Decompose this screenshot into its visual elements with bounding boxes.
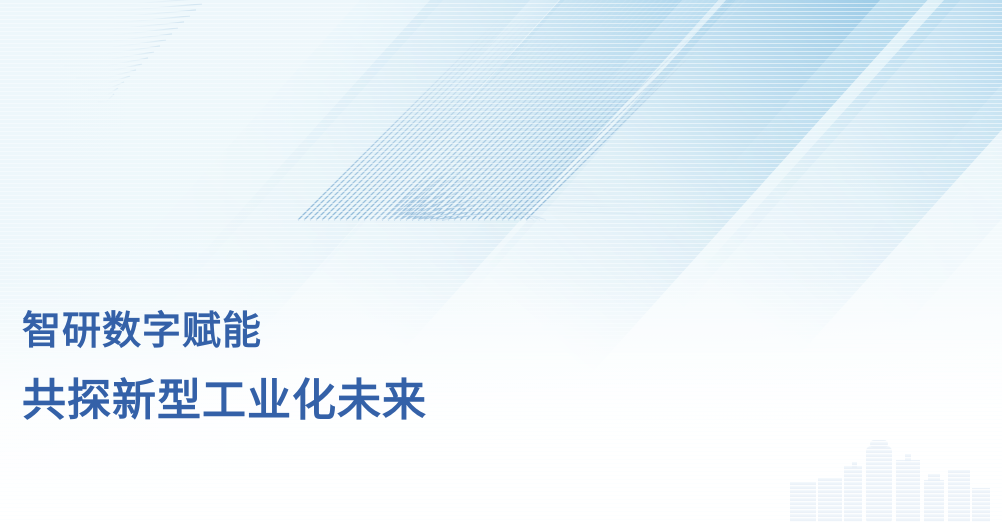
chevron-cluster-icon — [0, 0, 194, 110]
diagonal-band — [612, 0, 1002, 440]
scanline-texture — [0, 0, 1002, 522]
diagonal-band — [548, 0, 1002, 409]
headline-line-2: 共探新型工业化未来 — [22, 379, 427, 423]
diagonal-band — [394, 0, 1002, 440]
headline-line-1: 智研数字赋能 — [22, 312, 427, 351]
chevron-wedge-icon — [296, 0, 716, 224]
left-wash-overlay — [0, 0, 300, 522]
cover-slide: 智研数字赋能 共探新型工业化未来 — [0, 0, 1002, 522]
diagonal-band — [350, 0, 982, 396]
city-skyline-icon — [772, 422, 1002, 522]
diagonal-band — [746, 0, 1002, 429]
headline-block: 智研数字赋能 共探新型工业化未来 — [22, 312, 427, 423]
